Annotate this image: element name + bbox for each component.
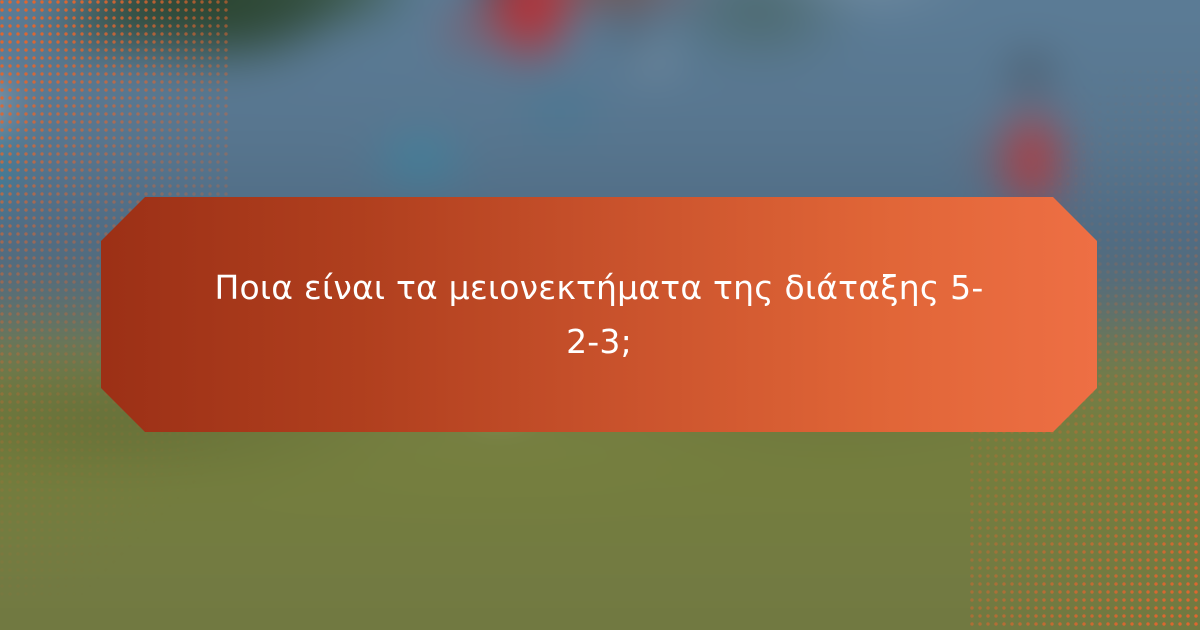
share-card: Ποια είναι τα μειονεκτήματα της διάταξης…: [0, 0, 1200, 630]
question-banner-text: Ποια είναι τα μειονεκτήματα της διάταξης…: [204, 261, 994, 368]
question-banner: Ποια είναι τα μειονεκτήματα της διάταξης…: [101, 197, 1097, 432]
